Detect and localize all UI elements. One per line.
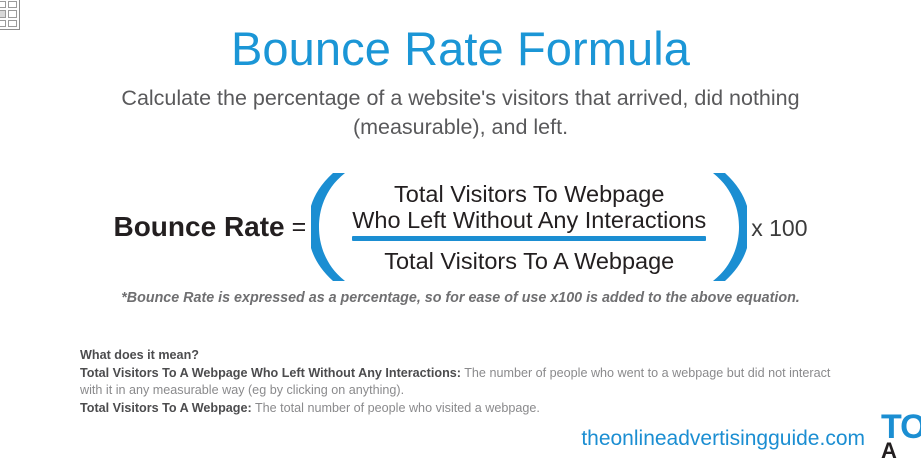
infographic-page: Bounce Rate Formula Calculate the percen…: [0, 0, 921, 460]
formula-left-term: Bounce Rate: [113, 211, 284, 243]
formula-equals-sign: =: [292, 213, 307, 242]
explanation-heading: What does it mean?: [80, 347, 840, 365]
explanation-item-2: Total Visitors To A Webpage: The total n…: [80, 400, 840, 418]
fraction: Total Visitors To Webpage Who Left Witho…: [352, 181, 706, 274]
numerator-line-1: Total Visitors To Webpage: [352, 181, 706, 207]
numerator-line-2: Who Left Without Any Interactions: [352, 207, 706, 233]
fraction-numerator: Total Visitors To Webpage Who Left Witho…: [352, 181, 706, 236]
page-subtitle: Calculate the percentage of a website's …: [88, 84, 833, 142]
explanation-definition-2: The total number of people who visited a…: [252, 401, 540, 415]
explanation-term-2: Total Visitors To A Webpage:: [80, 401, 252, 415]
formula-block: Bounce Rate = Total Visitors To Webpage …: [0, 168, 921, 286]
open-paren-icon: [311, 171, 349, 283]
formula-footnote: *Bounce Rate is expressed as a percentag…: [0, 288, 921, 308]
grid-cell: [8, 10, 17, 17]
page-title: Bounce Rate Formula: [0, 21, 921, 77]
formula-multiplier: x 100: [751, 215, 807, 242]
grid-cell: [0, 1, 6, 8]
grid-cell: [8, 1, 17, 8]
close-paren-icon: [709, 171, 747, 283]
explanation-item-1: Total Visitors To A Webpage Who Left Wit…: [80, 365, 840, 400]
site-url-link[interactable]: theonlineadvertisingguide.com: [581, 426, 865, 452]
grid-cell: [0, 10, 6, 17]
brand-logo[interactable]: TO A: [881, 412, 921, 458]
explanation-block: What does it mean? Total Visitors To A W…: [80, 347, 840, 417]
fraction-denominator: Total Visitors To A Webpage: [384, 241, 674, 274]
explanation-term-1: Total Visitors To A Webpage Who Left Wit…: [80, 366, 461, 380]
